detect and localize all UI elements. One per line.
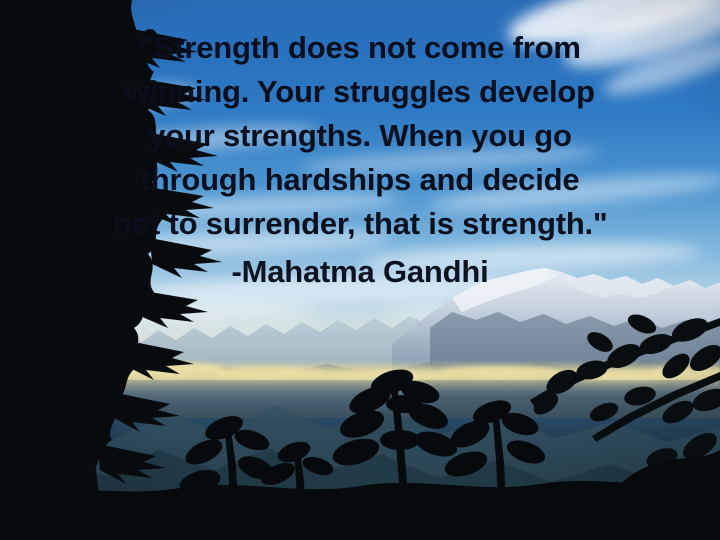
sunrise-cloud-puff — [94, 362, 224, 376]
quote-line: not to surrender, that is strength." — [0, 202, 720, 246]
quote-line: through hardships and decide — [0, 158, 720, 202]
quote-line: "Strength does not come from — [0, 26, 720, 70]
sunrise-cloud-puff — [650, 366, 720, 378]
quote-line: your strengths. When you go — [0, 114, 720, 158]
quote-line: winning. Your struggles develop — [0, 70, 720, 114]
quote-image: "Strength does not come from winning. Yo… — [0, 0, 720, 540]
quote-attribution: -Mahatma Gandhi — [0, 250, 720, 294]
sunrise-cloud-puff — [440, 366, 560, 379]
dark-valley — [0, 380, 720, 540]
quote-text-block: "Strength does not come from winning. Yo… — [0, 26, 720, 294]
sunrise-cloud-puff — [206, 367, 326, 379]
